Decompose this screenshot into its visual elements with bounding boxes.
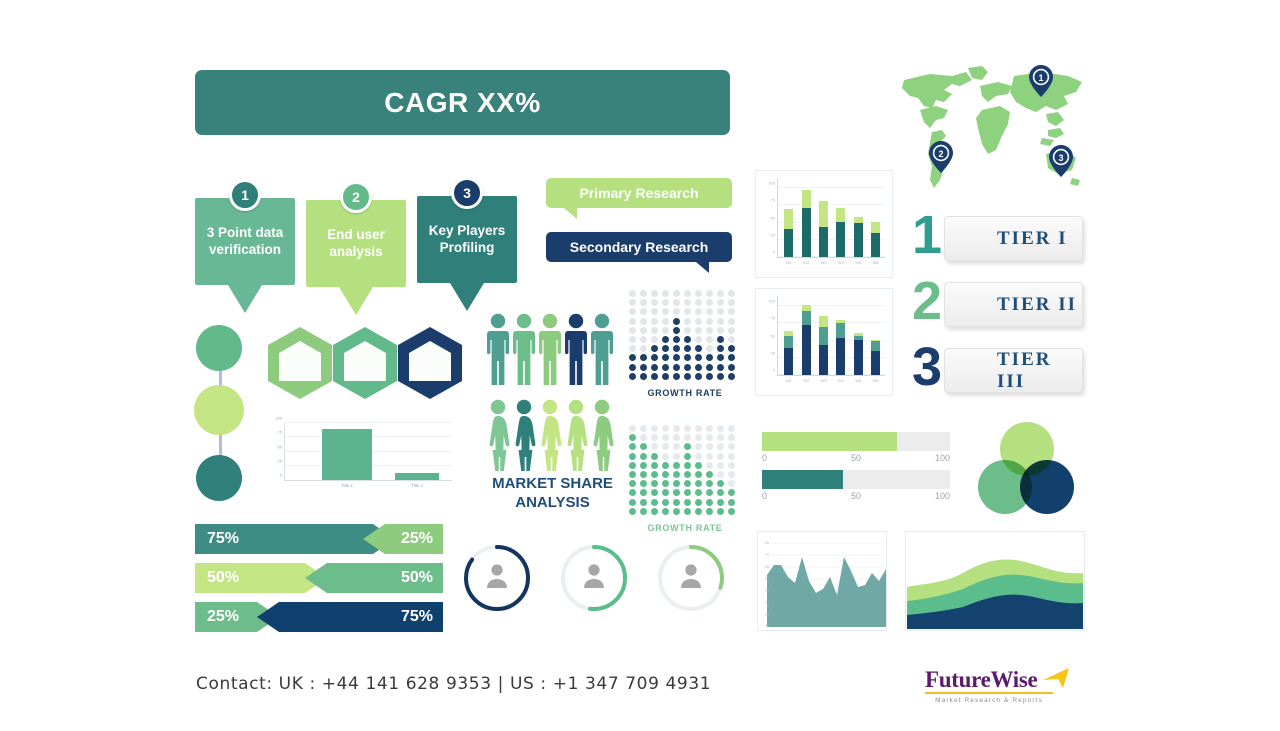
matrix-dot: [717, 489, 724, 496]
matrix-dot: [706, 425, 713, 432]
matrix-dot: [717, 508, 724, 515]
stacked-bar-column: W1: [784, 195, 793, 257]
x-tick-label: W3: [821, 260, 827, 265]
map-pin-2[interactable]: 2: [928, 140, 954, 174]
arrow-bar-1: 75% 25%: [195, 524, 443, 554]
gridline: [778, 322, 885, 323]
matrix-dot: [717, 318, 724, 325]
logo-word-wise: Wise: [991, 667, 1038, 692]
tier-row-2: TIER II 2: [908, 278, 1083, 331]
growth-rate-matrix-1-grid: [629, 290, 741, 384]
matrix-dot: [629, 373, 636, 380]
stacked-bar-segment: [836, 222, 845, 257]
gridline: [778, 187, 885, 188]
matrix-dot: [629, 318, 636, 325]
stacked-bar-segment: [871, 222, 880, 233]
growth-rate-matrix-1: GROWTH RATE: [629, 290, 741, 398]
arrow-bar-3-right-label: 75%: [401, 608, 433, 626]
matrix-dot: [728, 345, 735, 352]
matrix-dot: [717, 434, 724, 441]
donut-gauge-3: [655, 542, 727, 614]
matrix-dot: [706, 489, 713, 496]
matrix-dot: [673, 318, 680, 325]
gauge-person-icon-2: [584, 564, 604, 588]
matrix-dot: [629, 471, 636, 478]
stacked-bar-column: W3: [819, 190, 828, 257]
matrix-dot: [717, 499, 724, 506]
x-tick-label: W5: [855, 378, 861, 383]
matrix-dot: [640, 434, 647, 441]
stacked-bar-segment: [819, 345, 828, 375]
stacked-bar-segment: [802, 311, 811, 326]
matrix-dot: [629, 443, 636, 450]
step-label-1: 3 Point data verification: [201, 225, 289, 258]
matrix-dot: [640, 499, 647, 506]
gridline: [778, 340, 885, 341]
matrix-dot: [673, 373, 680, 380]
flow-circle-1: [196, 325, 242, 371]
stacked-bar-segment: [836, 208, 845, 222]
matrix-dot: [684, 443, 691, 450]
stacked-bar-segment: [871, 340, 880, 341]
matrix-dot: [684, 364, 691, 371]
matrix-dot: [629, 480, 636, 487]
matrix-dot: [629, 434, 636, 441]
matrix-dot: [662, 443, 669, 450]
matrix-dot: [662, 345, 669, 352]
logo-word-future: Future: [925, 667, 991, 692]
matrix-dot: [728, 471, 735, 478]
matrix-dot: [728, 508, 735, 515]
matrix-dot: [706, 327, 713, 334]
gridline: [778, 222, 885, 223]
matrix-dot: [673, 508, 680, 515]
matrix-dot: [651, 443, 658, 450]
mini-bar-bar-0: [322, 429, 372, 480]
matrix-dot: [673, 480, 680, 487]
step-callout-3: 3 Key Players Profiling: [417, 196, 517, 311]
matrix-dot: [728, 327, 735, 334]
matrix-dot: [651, 318, 658, 325]
matrix-dot: [662, 290, 669, 297]
map-pin-1[interactable]: 1: [1028, 64, 1054, 98]
matrix-dot: [695, 318, 702, 325]
person-icon-male-3: [538, 313, 562, 387]
matrix-dot: [651, 345, 658, 352]
stacked-bar-segment: [854, 223, 863, 257]
matrix-dot: [717, 364, 724, 371]
stacked-bar-segment: [819, 316, 828, 327]
growth-rate-matrix-2: GROWTH RATE: [629, 425, 741, 533]
futurewise-logo: FutureWise Market Research & Reports: [925, 668, 1075, 714]
tier-row-3: TIER III 3: [908, 344, 1083, 397]
growth-rate-matrix-2-caption: GROWTH RATE: [629, 523, 741, 533]
matrix-dot: [706, 354, 713, 361]
matrix-dot: [728, 443, 735, 450]
stacked-bar-column: W5: [854, 317, 863, 375]
stacked-bar-segment: [784, 209, 793, 229]
matrix-dot: [673, 443, 680, 450]
matrix-dot: [695, 453, 702, 460]
matrix-dot: [717, 354, 724, 361]
matrix-dot: [728, 336, 735, 343]
matrix-dot: [706, 453, 713, 460]
matrix-dot: [695, 354, 702, 361]
matrix-dot: [717, 308, 724, 315]
matrix-dot: [629, 299, 636, 306]
stacked-bar-column: W5: [854, 201, 863, 257]
matrix-dot: [684, 373, 691, 380]
matrix-dot: [651, 489, 658, 496]
matrix-dot: [673, 471, 680, 478]
person-icon-male-5: [590, 313, 614, 387]
matrix-dot: [651, 308, 658, 315]
gridline: [778, 204, 885, 205]
logo-arrow-icon: [1041, 666, 1073, 695]
matrix-dot: [651, 336, 658, 343]
matrix-dot: [728, 308, 735, 315]
matrix-dot: [684, 299, 691, 306]
x-tick-label: W4: [838, 378, 844, 383]
matrix-dot: [717, 462, 724, 469]
growth-rate-matrix-1-caption: GROWTH RATE: [629, 388, 741, 398]
stacked-bar-segment: [784, 348, 793, 375]
matrix-dot: [684, 345, 691, 352]
map-pin-3[interactable]: 3: [1048, 144, 1074, 178]
matrix-dot: [651, 462, 658, 469]
x-tick-label: W1: [786, 260, 792, 265]
matrix-dot: [717, 480, 724, 487]
stacked-bar-chart-2: 0255075100W1W2W3W4W5W6: [755, 288, 893, 396]
hexagon-3: [395, 325, 465, 401]
matrix-dot: [684, 327, 691, 334]
matrix-dot: [684, 354, 691, 361]
matrix-dot: [717, 336, 724, 343]
matrix-dot: [695, 299, 702, 306]
matrix-dot: [651, 453, 658, 460]
matrix-dot: [717, 299, 724, 306]
matrix-dot: [684, 434, 691, 441]
matrix-dot: [651, 354, 658, 361]
matrix-dot: [706, 480, 713, 487]
matrix-dot: [684, 453, 691, 460]
progress-slider-1-scale-100: 100: [935, 453, 950, 463]
matrix-dot: [662, 471, 669, 478]
matrix-dot: [717, 471, 724, 478]
venn-circle-3: [1020, 460, 1074, 514]
gridline: [778, 305, 885, 306]
matrix-dot: [651, 480, 658, 487]
matrix-dot: [662, 364, 669, 371]
matrix-dot: [684, 499, 691, 506]
person-icon-male-4: [564, 313, 588, 387]
stacked-bar-column: W4: [836, 195, 845, 258]
matrix-dot: [695, 499, 702, 506]
step-tail-3: [450, 283, 484, 311]
mini-bar-ytick-0: 100: [275, 416, 282, 421]
x-tick-label: W5: [855, 260, 861, 265]
matrix-dot: [717, 345, 724, 352]
stacked-bar-column: W6: [871, 322, 880, 375]
cagr-banner: CAGR XX%: [195, 70, 730, 135]
progress-slider-2-scale-0: 0: [762, 491, 767, 501]
matrix-dot: [684, 308, 691, 315]
tier-label-1: TIER I: [997, 228, 1068, 250]
matrix-dot: [651, 327, 658, 334]
matrix-dot: [662, 327, 669, 334]
matrix-dot: [706, 336, 713, 343]
matrix-dot: [629, 327, 636, 334]
mini-bar-xlabel-1: Title x: [411, 483, 423, 488]
matrix-dot: [684, 290, 691, 297]
arrow-bar-3: 25% 75%: [195, 602, 443, 632]
matrix-dot: [706, 299, 713, 306]
y-tick-label: 0: [773, 250, 775, 255]
matrix-dot: [717, 443, 724, 450]
y-tick-label: 100: [768, 181, 775, 186]
matrix-dot: [706, 443, 713, 450]
stacked-bar-segment: [784, 331, 793, 336]
matrix-dot: [673, 453, 680, 460]
matrix-dot: [695, 480, 702, 487]
stacked-bar-column: W3: [819, 307, 828, 375]
step-label-2: End user analysis: [312, 227, 400, 260]
stacked-bar-segment: [802, 305, 811, 310]
matrix-dot: [728, 299, 735, 306]
matrix-dot: [684, 489, 691, 496]
matrix-dot: [684, 471, 691, 478]
matrix-dot: [706, 308, 713, 315]
matrix-dot: [695, 373, 702, 380]
stacked-bar-segment: [871, 233, 880, 257]
matrix-dot: [673, 336, 680, 343]
matrix-dot: [728, 434, 735, 441]
matrix-dot: [673, 308, 680, 315]
matrix-dot: [684, 462, 691, 469]
arrow-bar-2: 50% 50%: [195, 563, 443, 593]
matrix-dot: [629, 489, 636, 496]
x-tick-label: W6: [873, 378, 879, 383]
y-tick-label: 0: [773, 368, 775, 373]
primary-research-nib: [564, 208, 577, 219]
matrix-dot: [728, 354, 735, 361]
matrix-dot: [728, 462, 735, 469]
venn-diagram: [978, 422, 1076, 517]
matrix-dot: [706, 364, 713, 371]
market-share-line-2: ANALYSIS: [470, 493, 635, 512]
y-tick-label: 100: [768, 299, 775, 304]
matrix-dot: [673, 364, 680, 371]
arrow-bar-1-left-label: 75%: [207, 530, 239, 548]
matrix-dot: [651, 434, 658, 441]
progress-slider-1-scale: 0 50 100: [762, 453, 950, 467]
hexagon-2: [330, 325, 400, 401]
matrix-dot: [728, 318, 735, 325]
matrix-dot: [673, 290, 680, 297]
matrix-dot: [640, 489, 647, 496]
matrix-dot: [629, 364, 636, 371]
matrix-dot: [695, 462, 702, 469]
world-map-landmass: [896, 62, 1092, 204]
matrix-dot: [651, 471, 658, 478]
stacked-bar-chart-1-plot: 0255075100W1W2W3W4W5W6: [777, 178, 885, 258]
primary-research-label: Primary Research: [579, 185, 698, 201]
step-tail-1: [228, 285, 262, 313]
y-tick-label: 25: [771, 350, 775, 355]
matrix-dot: [662, 318, 669, 325]
step-callout-2: 2 End user analysis: [306, 200, 406, 315]
matrix-dot: [673, 354, 680, 361]
matrix-dot: [662, 480, 669, 487]
stacked-bar-column: W2: [802, 184, 811, 257]
tier-row-1: TIER I 1: [908, 212, 1083, 265]
matrix-dot: [662, 299, 669, 306]
tier-number-1: 1: [912, 208, 942, 262]
matrix-dot: [629, 425, 636, 432]
world-map: 1 2 3: [896, 62, 1092, 204]
matrix-dot: [640, 471, 647, 478]
stacked-bar-segment: [802, 325, 811, 375]
person-icon-female-5: [590, 399, 614, 473]
x-tick-label: W3: [821, 378, 827, 383]
arrow-bar-3-left-label: 25%: [207, 608, 239, 626]
market-share-analysis-label: MARKET SHARE ANALYSIS: [470, 474, 635, 512]
gauge-person-icon-3: [681, 564, 701, 588]
stacked-bar-column: W6: [871, 204, 880, 257]
matrix-dot: [695, 290, 702, 297]
tier-number-3: 3: [912, 340, 942, 394]
mini-bar-xlabel-0: Title x: [341, 483, 353, 488]
matrix-dot: [673, 489, 680, 496]
stacked-bar-column: W2: [802, 301, 811, 375]
stacked-bar-segment: [871, 351, 880, 375]
matrix-dot: [717, 290, 724, 297]
progress-slider-2-scale: 0 50 100: [762, 491, 950, 505]
x-tick-label: W4: [838, 260, 844, 265]
person-icon-male-2: [512, 313, 536, 387]
matrix-dot: [695, 443, 702, 450]
x-tick-label: W1: [786, 378, 792, 383]
stacked-bar-chart-2-plot: 0255075100W1W2W3W4W5W6: [777, 296, 885, 376]
matrix-dot: [728, 499, 735, 506]
matrix-dot: [684, 508, 691, 515]
matrix-dot: [629, 308, 636, 315]
stacked-bar-segment: [802, 190, 811, 208]
matrix-dot: [706, 508, 713, 515]
progress-slider-2-track: [762, 470, 950, 489]
matrix-dot: [640, 508, 647, 515]
matrix-dot: [728, 480, 735, 487]
matrix-dot: [673, 345, 680, 352]
matrix-dot: [706, 471, 713, 478]
stacked-bar-segment: [836, 323, 845, 338]
matrix-dot: [640, 299, 647, 306]
matrix-dot: [640, 443, 647, 450]
stacked-bar-segment: [871, 341, 880, 351]
matrix-dot: [662, 489, 669, 496]
matrix-dot: [629, 462, 636, 469]
mini-bar-ytick-4: 0: [280, 473, 282, 478]
mini-bar-plot: 100 75 50 25 0 Title x Title x: [284, 423, 452, 481]
matrix-dot: [728, 425, 735, 432]
matrix-dot: [640, 327, 647, 334]
area-chart-1: 80 70 60 50 40 30 20 10: [757, 531, 887, 631]
matrix-dot: [684, 318, 691, 325]
matrix-dot: [695, 336, 702, 343]
secondary-research-bubble: Secondary Research: [546, 232, 732, 273]
matrix-dot: [640, 318, 647, 325]
stacked-bar-segment: [819, 201, 828, 228]
stacked-bar-segment: [854, 217, 863, 223]
market-share-line-1: MARKET SHARE: [470, 474, 635, 493]
stacked-bar-segment: [854, 336, 863, 341]
progress-slider-1-track: [762, 432, 950, 451]
matrix-dot: [728, 373, 735, 380]
step-badge-1: 1: [229, 179, 261, 211]
matrix-dot: [662, 462, 669, 469]
y-tick-label: 25: [771, 232, 775, 237]
growth-rate-matrix-2-grid: [629, 425, 741, 519]
map-pin-2-number: 2: [938, 149, 943, 159]
matrix-dot: [662, 499, 669, 506]
donut-gauge-2: [558, 542, 630, 614]
matrix-dot: [684, 425, 691, 432]
x-tick-label: W2: [803, 260, 809, 265]
matrix-dot: [673, 425, 680, 432]
matrix-dot: [706, 318, 713, 325]
matrix-dot: [706, 290, 713, 297]
matrix-dot: [662, 308, 669, 315]
primary-research-bubble: Primary Research: [546, 178, 732, 219]
matrix-dot: [673, 434, 680, 441]
person-icon-male-1: [486, 313, 510, 387]
matrix-dot: [673, 299, 680, 306]
mini-bar-ytick-3: 25: [278, 458, 282, 463]
hexagon-1: [265, 325, 335, 401]
matrix-dot: [706, 434, 713, 441]
flow-circle-3: [196, 455, 242, 501]
matrix-dot: [651, 299, 658, 306]
matrix-dot: [640, 308, 647, 315]
stacked-bar-column: W4: [836, 309, 845, 375]
logo-tagline: Market Research & Reports: [925, 697, 1053, 704]
arrow-bar-2-right-label: 50%: [401, 569, 433, 587]
matrix-dot: [728, 290, 735, 297]
matrix-dot: [695, 434, 702, 441]
progress-slider-1-scale-0: 0: [762, 453, 767, 463]
matrix-dot: [695, 364, 702, 371]
map-pin-3-number: 3: [1058, 153, 1063, 163]
infographic-canvas: CAGR XX% 1 3 Point data verification 2 E…: [0, 0, 1280, 731]
mini-bar-bar-1: [395, 473, 438, 480]
matrix-dot: [640, 290, 647, 297]
matrix-dot: [629, 345, 636, 352]
tier-label-2: TIER II: [997, 294, 1077, 316]
y-tick-label: 75: [771, 316, 775, 321]
matrix-dot: [695, 508, 702, 515]
matrix-dot: [695, 489, 702, 496]
stacked-bar-segment: [819, 327, 828, 345]
stacked-bar-segment: [836, 320, 845, 323]
mini-bar-chart: 100 75 50 25 0 Title x Title x: [258, 419, 454, 497]
matrix-dot: [695, 345, 702, 352]
matrix-dot: [640, 462, 647, 469]
x-tick-label: W2: [803, 378, 809, 383]
stacked-bar-segment: [836, 338, 845, 375]
progress-slider-2: 0 50 100: [762, 470, 950, 505]
matrix-dot: [673, 499, 680, 506]
step-label-3: Key Players Profiling: [423, 223, 511, 256]
